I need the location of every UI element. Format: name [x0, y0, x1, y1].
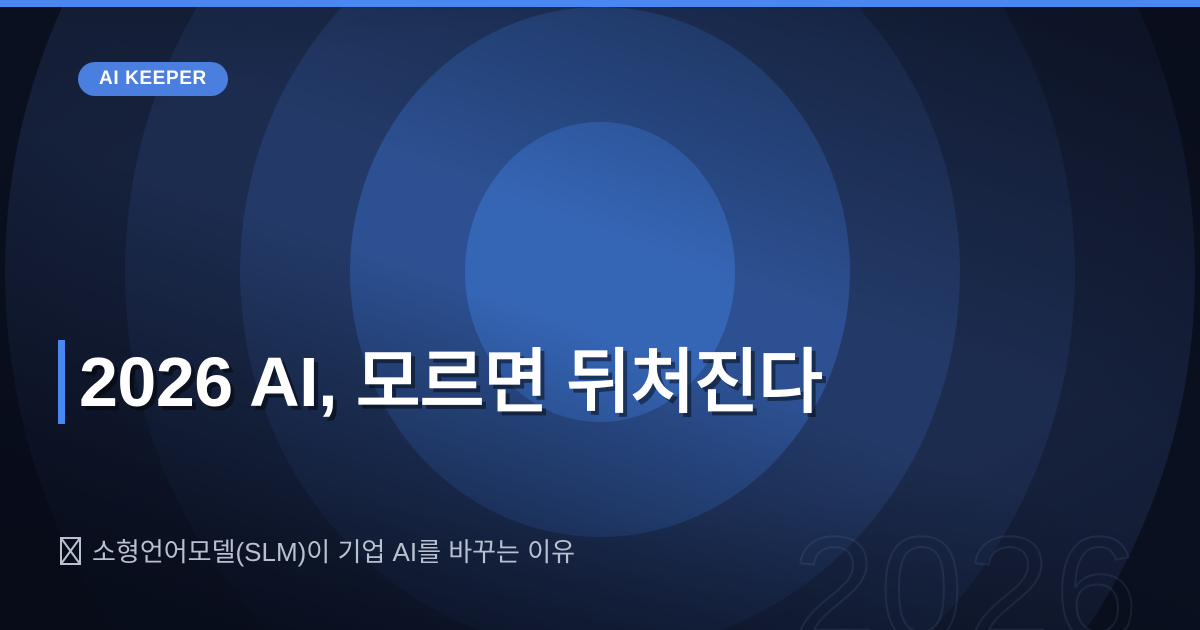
brand-badge: AI KEEPER	[78, 62, 228, 96]
social-card: AI KEEPER 2026 AI, 모르면 뒤처진다 소형언어모델(SLM)이…	[0, 0, 1200, 630]
headline-accent-bar	[58, 340, 65, 424]
subtitle-text: 소형언어모델(SLM)이 기업 AI를 바꾸는 이유	[92, 532, 575, 569]
page-title: 2026 AI, 모르면 뒤처진다	[79, 347, 822, 417]
brand-badge-label: AI KEEPER	[99, 68, 207, 90]
missing-glyph-box-icon	[60, 537, 81, 565]
subtitle-block: 소형언어모델(SLM)이 기업 AI를 바꾸는 이유	[60, 532, 575, 569]
headline-block: 2026 AI, 모르면 뒤처진다	[58, 300, 822, 464]
top-accent-bar	[0, 0, 1200, 7]
